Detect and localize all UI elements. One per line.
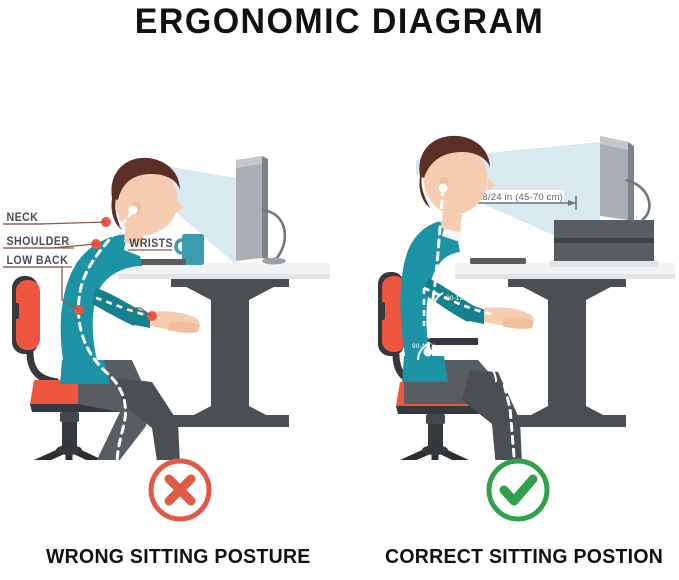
label-neck: NECK bbox=[7, 212, 39, 224]
panel-captions: WRONG SITTING POSTURE CORRECT SITTING PO… bbox=[0, 545, 679, 580]
wrong-posture-illustration: NECK SHOULDER LOW BACK WRISTS bbox=[3, 156, 342, 460]
dimension-label: 18/24 in (45-70 cm) bbox=[477, 192, 563, 203]
check-circle-icon bbox=[483, 455, 553, 525]
desk-top-edge-correct bbox=[455, 274, 675, 279]
monitor-correct bbox=[600, 136, 649, 221]
angle-knee: 90-120° bbox=[482, 354, 506, 362]
keyboard-correct bbox=[470, 258, 526, 264]
angle-hip: 90-120° bbox=[412, 342, 436, 350]
diagram-stage: NECK SHOULDER LOW BACK WRISTS bbox=[0, 60, 679, 460]
label-shoulder: SHOULDER bbox=[7, 236, 70, 248]
label-low-back: LOW BACK bbox=[7, 255, 69, 267]
label-wrists: WRISTS bbox=[129, 238, 173, 250]
cross-circle-icon bbox=[145, 455, 215, 525]
angle-elbow: 90-120° bbox=[446, 294, 470, 302]
desk-pedestal-wrong bbox=[171, 279, 289, 427]
caption-wrong: WRONG SITTING POSTURE bbox=[46, 545, 311, 569]
correct-posture-illustration: 18/24 in (45-70 cm) bbox=[360, 136, 676, 460]
monitor-wrong bbox=[236, 156, 286, 264]
desk-pedestal-correct bbox=[508, 279, 626, 427]
keyboard-wrong bbox=[136, 259, 186, 265]
page-title: ERGONOMIC DIAGRAM bbox=[10, 2, 669, 42]
desk-top-edge-wrong bbox=[118, 274, 330, 279]
caption-correct: CORRECT SITTING POSTION bbox=[385, 545, 663, 569]
ergonomic-diagram-page: ERGONOMIC DIAGRAM bbox=[0, 0, 679, 580]
monitor-riser bbox=[550, 220, 658, 267]
verdict-icons bbox=[0, 455, 679, 530]
